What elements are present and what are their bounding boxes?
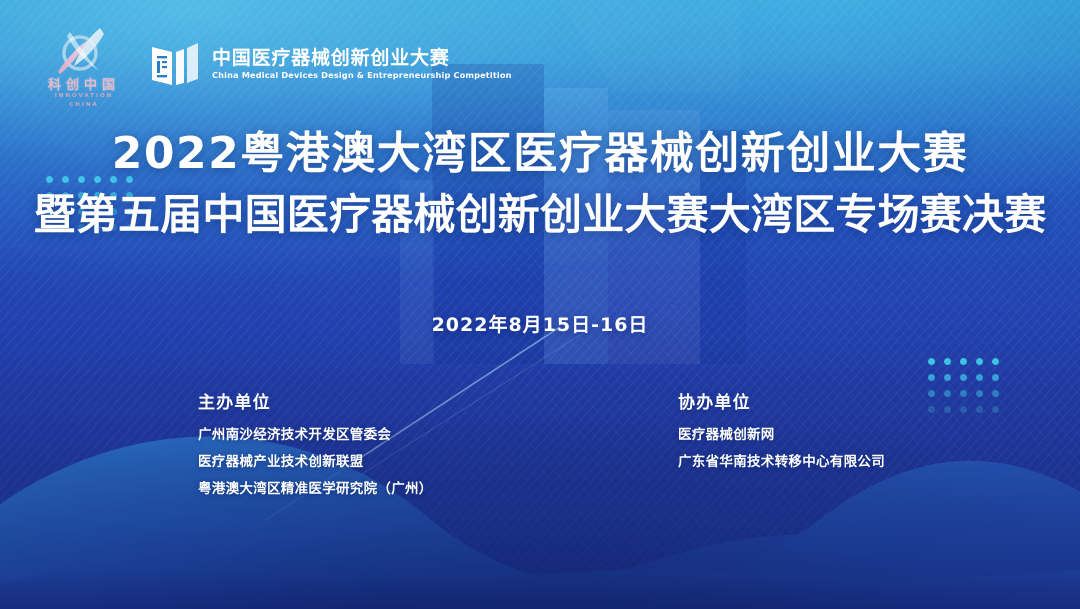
poster-canvas: 科创中国 INNOVATION CHINA — [0, 0, 1080, 609]
logo-header: 科创中国 INNOVATION CHINA — [40, 26, 512, 102]
innovation-china-logo: 科创中国 INNOVATION CHINA — [40, 26, 128, 102]
organizer-item: 医疗器械创新网 — [678, 423, 885, 443]
headline-line-2: 暨第五届中国医疗器械创新创业大赛大湾区专场赛决赛 — [0, 189, 1080, 240]
innovation-china-wordmark: 科创中国 INNOVATION CHINA — [40, 79, 128, 110]
competition-name-en: China Medical Devices Design & Entrepren… — [212, 71, 512, 79]
organizer-title-host: 主办单位 — [198, 388, 433, 413]
organizer-item: 广东省华南技术转移中心有限公司 — [678, 450, 885, 470]
event-date: 2022年8月15日-16日 — [0, 310, 1080, 337]
innovation-china-en: INNOVATION CHINA — [40, 92, 128, 110]
dot-grid-right — [928, 358, 999, 413]
competition-logo: 中国医疗器械创新创业大赛 China Medical Devices Desig… — [150, 41, 512, 87]
organizer-item: 粤港澳大湾区精准医学研究院（广州） — [198, 477, 433, 497]
innovation-china-cn: 科创中国 — [40, 79, 128, 92]
headline-block: 2022粤港澳大湾区医疗器械创新创业大赛 暨第五届中国医疗器械创新创业大赛大湾区… — [0, 126, 1080, 241]
organizer-block-coorganizer: 协办单位 医疗器械创新网 广东省华南技术转移中心有限公司 — [678, 388, 885, 470]
cmdc-open-book-icon — [150, 41, 200, 87]
competition-name-cn: 中国医疗器械创新创业大赛 — [212, 49, 512, 68]
headline-line-1: 2022粤港澳大湾区医疗器械创新创业大赛 — [0, 126, 1080, 182]
organizer-title-coorganizer: 协办单位 — [678, 388, 885, 413]
innovation-china-bird-icon — [40, 26, 128, 78]
organizer-item: 广州南沙经济技术开发区管委会 — [198, 423, 433, 443]
organizer-block-host: 主办单位 广州南沙经济技术开发区管委会 医疗器械产业技术创新联盟 粤港澳大湾区精… — [198, 388, 433, 497]
wave-graphic — [0, 399, 1080, 609]
organizer-item: 医疗器械产业技术创新联盟 — [198, 450, 433, 470]
competition-wordmark: 中国医疗器械创新创业大赛 China Medical Devices Desig… — [212, 49, 512, 79]
